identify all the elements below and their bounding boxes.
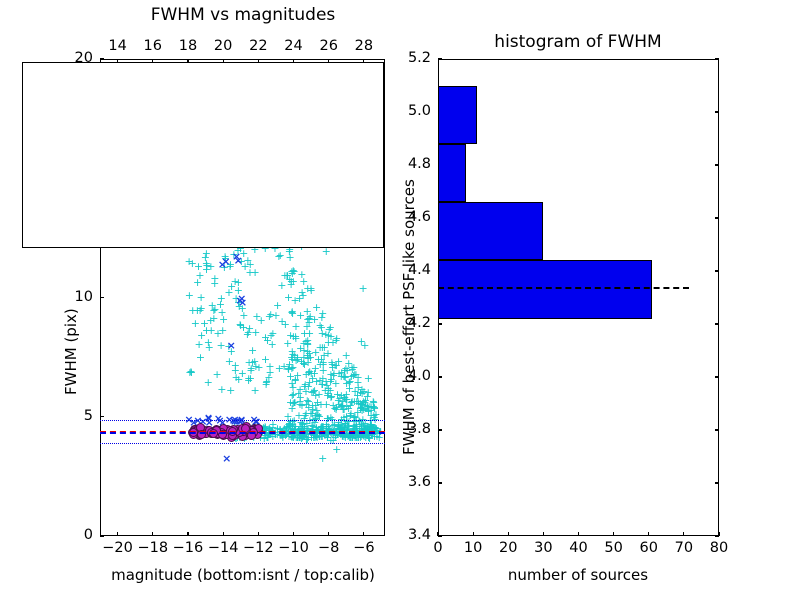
hist-y-tick <box>438 429 442 430</box>
hist-y-tick-right <box>715 111 719 112</box>
histogram-ylabel: FWHM of best-effort PSF-like sources <box>400 179 418 455</box>
hist-x-tick-label: 80 <box>710 540 728 556</box>
hist-y-tick-right <box>715 323 719 324</box>
histogram-resultant-fwhm-line <box>438 287 689 289</box>
plot-legend <box>22 62 384 248</box>
x-tick-bottom <box>187 532 188 536</box>
hist-y-tick-right <box>715 164 719 165</box>
sigma-range-upper-line <box>100 420 385 421</box>
hist-x-tick <box>683 532 684 536</box>
hist-x-tick-label: 30 <box>534 540 552 556</box>
scatter-xlabel: magnitude (bottom:isnt / top:calib) <box>111 566 375 584</box>
hist-y-tick-right <box>715 482 719 483</box>
x-tick-bottom <box>363 532 364 536</box>
hist-x-tick-label: 40 <box>569 540 587 556</box>
hist-y-tick-right <box>715 376 719 377</box>
x-tick-label-bottom: −16 <box>173 540 204 556</box>
y-tick-label: 5 <box>84 408 93 424</box>
hist-y-tick-label: 3.4 <box>408 527 431 543</box>
histogram-bar <box>438 202 543 260</box>
hist-x-tick-label: 60 <box>640 540 658 556</box>
x-tick-bottom <box>328 532 329 536</box>
y-tick-label: 0 <box>84 527 93 543</box>
hist-x-tick <box>543 532 544 536</box>
scatter-plot-title: FWHM vs magnitudes <box>151 5 336 25</box>
x-tick-label-bottom: −20 <box>102 540 133 556</box>
resultant-fwhm-line <box>100 432 385 434</box>
histogram-bar <box>438 260 652 318</box>
x-tick-bottom <box>117 532 118 536</box>
hist-x-tick-label: 20 <box>499 540 517 556</box>
x-tick-label-bottom: −10 <box>278 540 309 556</box>
x-tick-bottom <box>223 532 224 536</box>
scatter-ylabel: FWHM (pix) <box>62 308 80 395</box>
hist-y-tick <box>438 58 442 59</box>
histogram-xlabel: number of sources <box>508 566 648 584</box>
hist-y-tick-right <box>715 58 719 59</box>
hist-y-tick <box>438 376 442 377</box>
x-tick-label-top: 24 <box>284 38 302 54</box>
x-tick-label-top: 26 <box>319 38 337 54</box>
hist-x-tick <box>648 532 649 536</box>
figure-canvas: FWHM vs magnitudes−20−18−16−14−12−10−8−6… <box>0 0 800 600</box>
y-tick <box>100 58 104 59</box>
hist-y-tick-right <box>715 270 719 271</box>
x-tick-label-top: 22 <box>249 38 267 54</box>
x-tick-label-bottom: −6 <box>353 540 374 556</box>
hist-x-tick <box>578 532 579 536</box>
histogram-title: histogram of FWHM <box>494 32 661 52</box>
histogram-bar <box>438 86 477 144</box>
hist-x-tick-label: 0 <box>433 540 442 556</box>
sigma-range-lower-line <box>100 443 385 444</box>
hist-y-tick <box>438 535 442 536</box>
hist-x-tick-label: 10 <box>464 540 482 556</box>
histogram-bar <box>438 144 466 202</box>
x-tick-label-top: 28 <box>355 38 373 54</box>
x-tick-label-top: 20 <box>214 38 232 54</box>
hist-y-tick-right <box>715 535 719 536</box>
hist-x-tick <box>508 532 509 536</box>
hist-x-tick-label: 70 <box>675 540 693 556</box>
x-tick-bottom <box>258 532 259 536</box>
y-tick <box>100 416 104 417</box>
hist-x-tick <box>613 532 614 536</box>
y-tick-label: 10 <box>75 289 93 305</box>
hist-y-tick <box>438 323 442 324</box>
x-tick-bottom <box>152 532 153 536</box>
x-tick-label-bottom: −8 <box>318 540 339 556</box>
hist-y-tick-label: 5.0 <box>408 103 431 119</box>
hist-y-tick-label: 5.2 <box>408 50 431 66</box>
hist-y-tick-right <box>715 217 719 218</box>
y-tick <box>100 535 104 536</box>
x-tick-label-bottom: −14 <box>208 540 239 556</box>
x-tick-label-top: 14 <box>108 38 126 54</box>
x-tick-label-top: 16 <box>144 38 162 54</box>
hist-y-tick <box>438 482 442 483</box>
x-tick-label-bottom: −18 <box>137 540 168 556</box>
x-tick-label-bottom: −12 <box>243 540 274 556</box>
hist-y-tick-label: 3.6 <box>408 474 431 490</box>
hist-y-tick-label: 4.8 <box>408 156 431 172</box>
hist-x-tick-label: 50 <box>604 540 622 556</box>
x-tick-bottom <box>293 532 294 536</box>
hist-x-tick <box>473 532 474 536</box>
x-tick-label-top: 18 <box>179 38 197 54</box>
hist-y-tick-right <box>715 429 719 430</box>
y-tick <box>100 297 104 298</box>
